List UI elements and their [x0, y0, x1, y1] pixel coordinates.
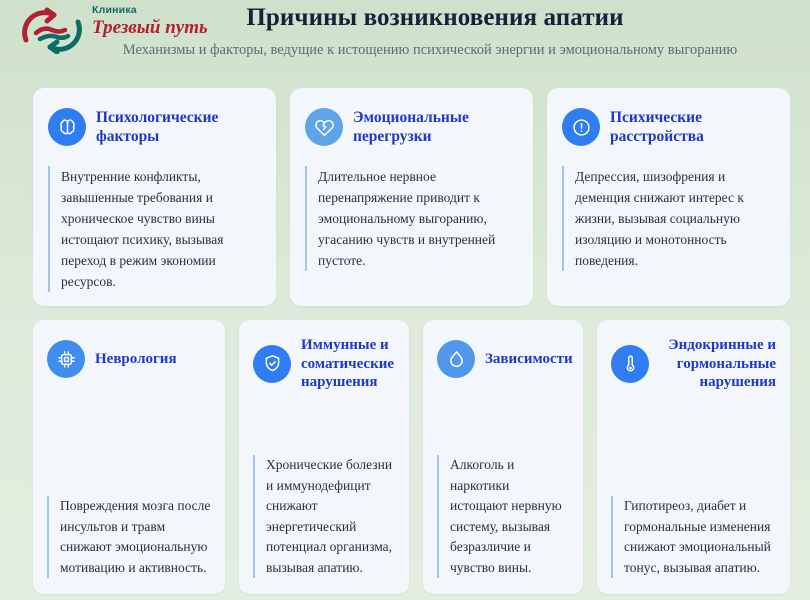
card-header: Эндокринные и гормональные нарушения	[611, 336, 776, 392]
card-title: Психологические факторы	[96, 108, 261, 146]
cards-row-bottom: Неврология Повреждения мозга после инсул…	[33, 320, 790, 594]
card-text: Хронические болезни и иммунодефицит сниж…	[253, 455, 395, 578]
card-mental-disorders[interactable]: Психические расстройства Депрессия, шизо…	[547, 88, 790, 306]
cards-row-top: Психологические факторы Внутренние конфл…	[33, 88, 790, 306]
card-title: Эндокринные и гормональные нарушения	[659, 336, 776, 392]
card-text: Алкоголь и наркотики истощают нервную си…	[437, 455, 569, 578]
card-emotional-overload[interactable]: Эмоциональные перегрузки Длительное нерв…	[290, 88, 533, 306]
card-header: Иммунные и соматические нарушения	[253, 336, 395, 392]
alert-circle-icon	[562, 108, 600, 146]
card-header: Неврология	[47, 336, 211, 382]
card-psychological-factors[interactable]: Психологические факторы Внутренние конфл…	[33, 88, 276, 306]
card-immune-somatic[interactable]: Иммунные и соматические нарушения Хронич…	[239, 320, 409, 594]
header: Клиника Трезвый путь Причины возникновен…	[0, 0, 810, 72]
card-text: Повреждения мозга после инсультов и трав…	[47, 496, 211, 578]
card-header: Зависимости	[437, 336, 569, 382]
page-title: Причины возникновения апатии	[0, 4, 810, 32]
card-endocrine-hormonal[interactable]: Эндокринные и гормональные нарушения Гип…	[597, 320, 790, 594]
card-neurology[interactable]: Неврология Повреждения мозга после инсул…	[33, 320, 225, 594]
page-subtitle: Механизмы и факторы, ведущие к истощению…	[0, 42, 810, 59]
card-title: Зависимости	[485, 350, 573, 369]
cards-grid: Психологические факторы Внутренние конфл…	[33, 88, 790, 594]
brain-icon	[48, 108, 86, 146]
infographic-page: Клиника Трезвый путь Причины возникновен…	[0, 0, 810, 600]
card-text: Депрессия, шизофрения и деменция снижают…	[562, 166, 775, 271]
card-header: Психологические факторы	[48, 104, 261, 150]
card-title: Эмоциональные перегрузки	[353, 108, 518, 146]
card-title: Неврология	[95, 350, 177, 369]
droplet-icon	[437, 340, 475, 378]
card-title: Психические расстройства	[610, 108, 775, 146]
card-text: Внутренние конфликты, завышенные требова…	[48, 166, 261, 292]
heart-crack-icon	[305, 108, 343, 146]
card-text: Гипотиреоз, диабет и гормональные измене…	[611, 496, 776, 578]
card-text: Длительное нервное перенапряжение привод…	[305, 166, 518, 271]
cpu-chip-icon	[47, 340, 85, 378]
card-addictions[interactable]: Зависимости Алкоголь и наркотики истощаю…	[423, 320, 583, 594]
shield-check-icon	[253, 345, 291, 383]
thermometer-icon	[611, 345, 649, 383]
card-header: Психические расстройства	[562, 104, 775, 150]
card-header: Эмоциональные перегрузки	[305, 104, 518, 150]
card-title: Иммунные и соматические нарушения	[301, 336, 395, 392]
